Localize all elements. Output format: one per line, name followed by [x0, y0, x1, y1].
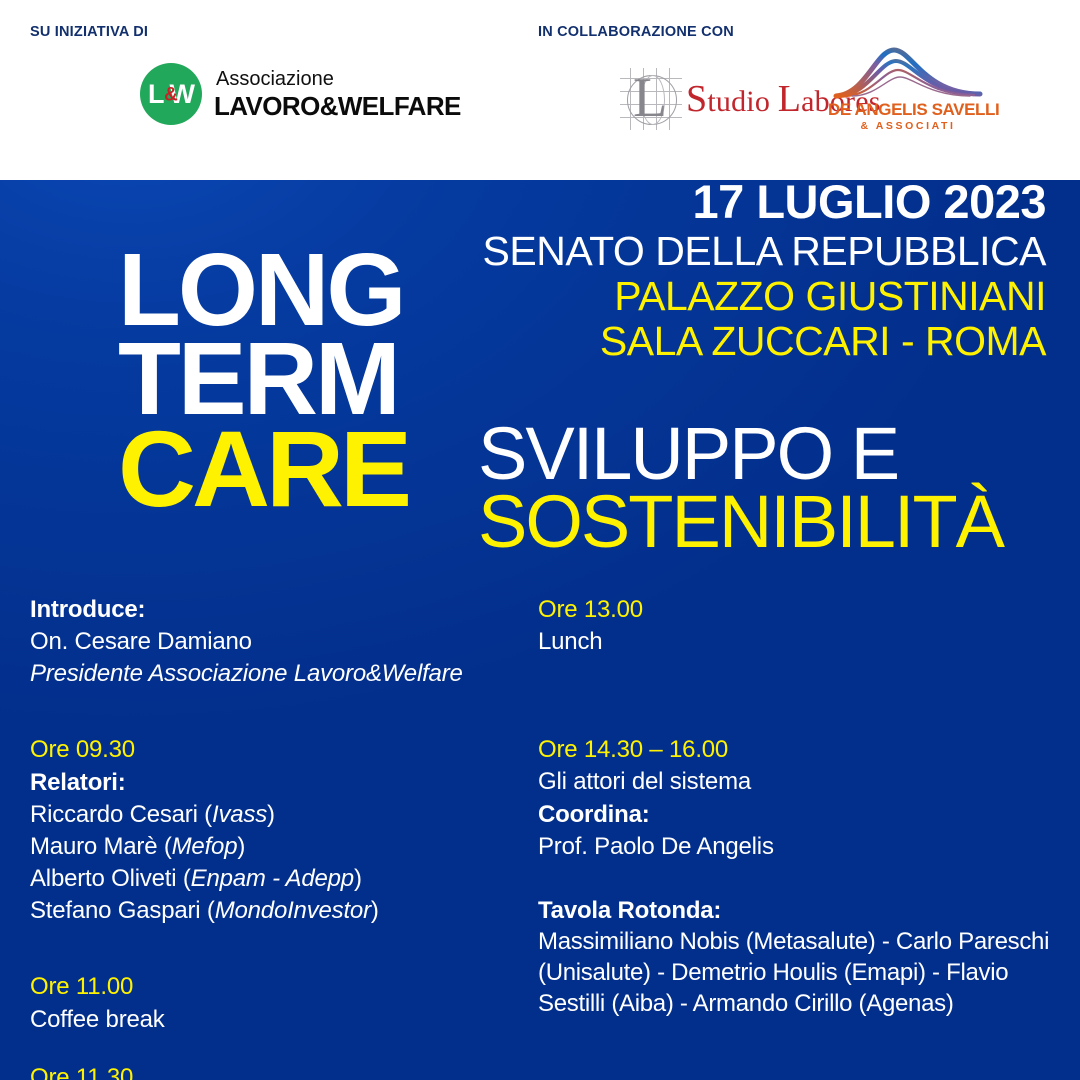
- speaker-row: Stefano Gaspari (MondoInvestor): [30, 895, 520, 927]
- program-block-tavola-rotonda: Tavola Rotonda: Massimiliano Nobis (Meta…: [538, 895, 1058, 1019]
- session1-time: Ore 09.30: [30, 734, 520, 766]
- program-column-right: Ore 13.00 Lunch Ore 14.30 – 16.00 Gli at…: [538, 594, 1058, 1019]
- poster-root: SU INIZIATIVA DI IN COLLABORAZIONE CON L…: [0, 0, 1080, 1080]
- subtitle-line-sviluppo: SVILUPPO E: [478, 420, 1003, 488]
- speaker-close: ): [354, 865, 362, 892]
- speaker-close: ): [371, 897, 379, 924]
- introduce-label: Introduce:: [30, 594, 520, 626]
- speaker-org: Ivass: [212, 801, 267, 828]
- relatori-label: Relatori:: [30, 767, 520, 799]
- lunch-time: Ore 13.00: [538, 594, 1058, 626]
- speaker-name: Riccardo Cesari (: [30, 801, 212, 828]
- program-column-left: Introduce: On. Cesare Damiano Presidente…: [30, 594, 520, 1036]
- speaker-name: Stefano Gaspari (: [30, 897, 215, 924]
- speaker-close: ): [237, 833, 245, 860]
- event-date: 17 LUGLIO 2023: [483, 178, 1046, 225]
- program-block-clipped: Ore 11.30: [30, 1062, 520, 1080]
- program-block-relatori: Ore 09.30 Relatori: Riccardo Cesari (Iva…: [30, 734, 520, 927]
- lunch-label: Lunch: [538, 626, 1058, 658]
- speaker-org: Enpam - Adepp: [191, 865, 354, 892]
- speaker-name: Mauro Marè (: [30, 833, 172, 860]
- session2-title: Gli attori del sistema: [538, 766, 1058, 798]
- subtitle-line-sostenibilita: SOSTENIBILITÀ: [478, 488, 1003, 556]
- speaker-row: Riccardo Cesari (Ivass): [30, 799, 520, 831]
- introduce-role: Presidente Associazione Lavoro&Welfare: [30, 658, 520, 690]
- program-block-attori: Ore 14.30 – 16.00 Gli attori del sistema…: [538, 734, 1058, 863]
- coordina-name: Prof. Paolo De Angelis: [538, 831, 1058, 863]
- event-institution: SENATO DELLA REPUBBLICA: [483, 231, 1046, 272]
- session2-time: Ore 14.30 – 16.00: [538, 734, 1058, 766]
- speaker-org: Mefop: [172, 833, 238, 860]
- speaker-row: Alberto Oliveti (Enpam - Adepp): [30, 863, 520, 895]
- poster-content: 17 LUGLIO 2023 SENATO DELLA REPUBBLICA P…: [0, 0, 1080, 1080]
- event-room: SALA ZUCCARI - ROMA: [483, 321, 1046, 362]
- event-venue: PALAZZO GIUSTINIANI: [483, 276, 1046, 317]
- speaker-org: MondoInvestor: [215, 897, 371, 924]
- poster-title: LONG TERM CARE: [118, 246, 408, 516]
- clipped-time: Ore 11.30: [30, 1062, 520, 1080]
- program-block-coffee-break: Ore 11.00 Coffee break: [30, 971, 520, 1035]
- speaker-close: ): [267, 801, 275, 828]
- title-line-care: CARE: [118, 423, 408, 516]
- event-details-block: 17 LUGLIO 2023 SENATO DELLA REPUBBLICA P…: [483, 178, 1046, 362]
- coordina-label: Coordina:: [538, 799, 1058, 831]
- poster-subtitle: SVILUPPO E SOSTENIBILITÀ: [478, 420, 1003, 556]
- program-block-introduce: Introduce: On. Cesare Damiano Presidente…: [30, 594, 520, 690]
- coffee-break-time: Ore 11.00: [30, 971, 520, 1003]
- tavola-rotonda-participants: Massimiliano Nobis (Metasalute) - Carlo …: [538, 927, 1058, 1019]
- speaker-name: Alberto Oliveti (: [30, 865, 191, 892]
- introduce-name: On. Cesare Damiano: [30, 626, 520, 658]
- tavola-rotonda-label: Tavola Rotonda:: [538, 895, 1058, 927]
- speaker-row: Mauro Marè (Mefop): [30, 831, 520, 863]
- coffee-break-label: Coffee break: [30, 1004, 520, 1036]
- program-block-lunch: Ore 13.00 Lunch: [538, 594, 1058, 658]
